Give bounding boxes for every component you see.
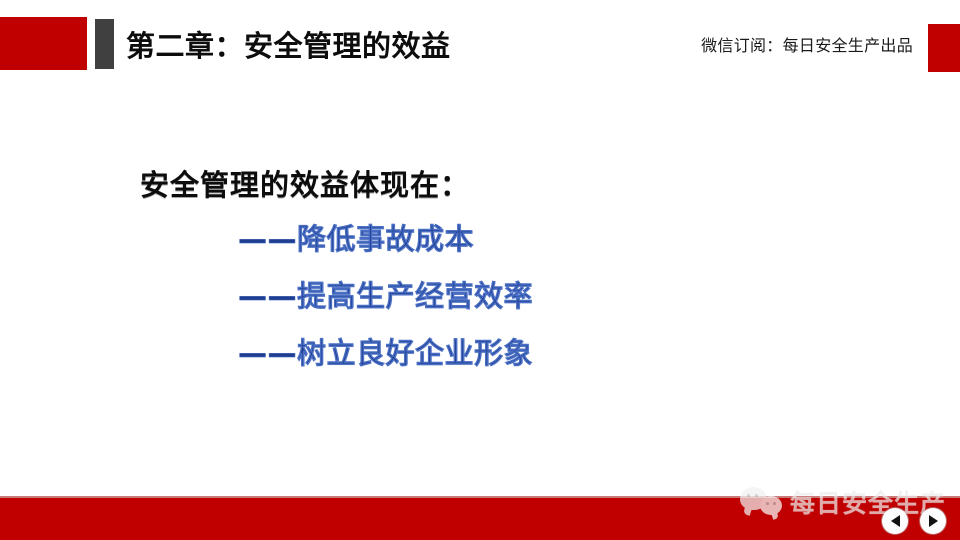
next-slide-button[interactable] bbox=[920, 508, 946, 534]
slide-body: 安全管理的效益体现在： ——降低事故成本 ——提高生产经营效率 ——树立良好企业… bbox=[0, 100, 960, 460]
benefit-list: ——降低事故成本 ——提高生产经营效率 ——树立良好企业形象 bbox=[238, 225, 838, 368]
slide-canvas: 第二章：安全管理的效益 微信订阅：每日安全生产出品 安全管理的效益体现在： ——… bbox=[0, 0, 960, 540]
header-red-block-right bbox=[928, 24, 960, 72]
header-gray-bar bbox=[95, 19, 114, 69]
content-heading: 安全管理的效益体现在： bbox=[140, 162, 470, 204]
slide-navigation bbox=[882, 508, 946, 534]
chapter-title: 第二章：安全管理的效益 bbox=[126, 22, 451, 66]
header-red-block-left bbox=[0, 17, 87, 70]
arrow-right-icon bbox=[929, 515, 938, 527]
subscribe-note: 微信订阅：每日安全生产出品 bbox=[701, 32, 913, 56]
footer-red-band bbox=[0, 498, 960, 540]
list-item: ——降低事故成本 bbox=[238, 225, 838, 254]
list-item: ——提高生产经营效率 bbox=[238, 282, 838, 311]
arrow-left-icon bbox=[891, 515, 900, 527]
prev-slide-button[interactable] bbox=[882, 508, 908, 534]
list-item: ——树立良好企业形象 bbox=[238, 339, 838, 368]
